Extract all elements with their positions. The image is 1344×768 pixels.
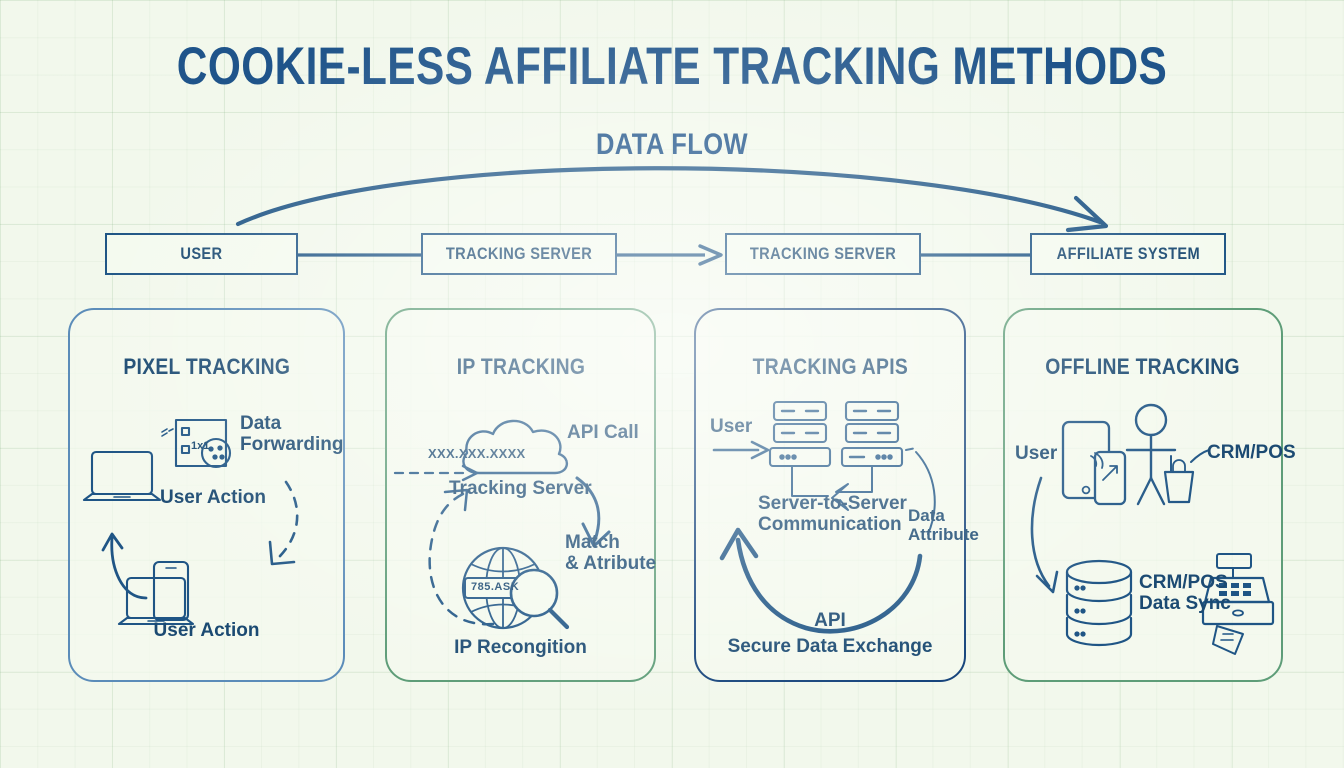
label-match-attribute: Match & Atribute	[565, 532, 660, 575]
label-data-attribute: Data Attribute	[908, 506, 974, 544]
label-user: User	[1015, 443, 1057, 464]
label-ip-recognition: IP Recongition	[387, 637, 654, 658]
label-ip-address: XXX.XXX.XXXX	[428, 447, 526, 462]
user-curved-arrow	[1032, 478, 1057, 592]
server-rack-icon-1	[770, 402, 830, 466]
label-user: User	[710, 416, 752, 437]
offline-tracking-illustration	[1005, 310, 1285, 684]
card-pixel-tracking[interactable]: PIXEL TRACKING	[68, 308, 345, 682]
laptop-icon	[84, 452, 160, 500]
label-data-forwarding: Data Forwarding	[240, 414, 350, 456]
label-user-action-top: User Action	[160, 487, 266, 508]
card-tracking-apis[interactable]: TRACKING APIS	[694, 308, 966, 682]
label-tracking-server: Tracking Server	[449, 478, 592, 499]
loop-arrow	[103, 534, 146, 598]
card-offline-tracking[interactable]: OFFLINE TRACKING	[1003, 308, 1283, 682]
label-api: API	[696, 610, 964, 631]
label-server-to-server: Server-to-Server Communication	[758, 493, 918, 536]
user-arrow	[714, 442, 768, 458]
label-globe-tag: 785.ASK	[471, 581, 519, 593]
label-user-action-bottom: User Action	[70, 620, 343, 641]
mobile-devices-icon	[1063, 422, 1125, 504]
label-crm-pos-data-sync: CRM/POS Data Sync	[1139, 572, 1249, 615]
database-icon	[1067, 561, 1131, 645]
return-dashed-loop	[430, 494, 493, 624]
label-secure-exchange: Secure Data Exchange	[696, 636, 964, 657]
dashed-forward-arrow	[276, 482, 297, 560]
label-api-call: API Call	[567, 422, 639, 443]
shopper-person-icon	[1127, 405, 1193, 504]
card-ip-tracking[interactable]: IP TRACKING	[385, 308, 656, 682]
label-crm-pos: CRM/POS	[1207, 442, 1296, 463]
label-pixel-size: 1x1	[191, 440, 209, 452]
server-rack-icon-2	[842, 402, 902, 466]
